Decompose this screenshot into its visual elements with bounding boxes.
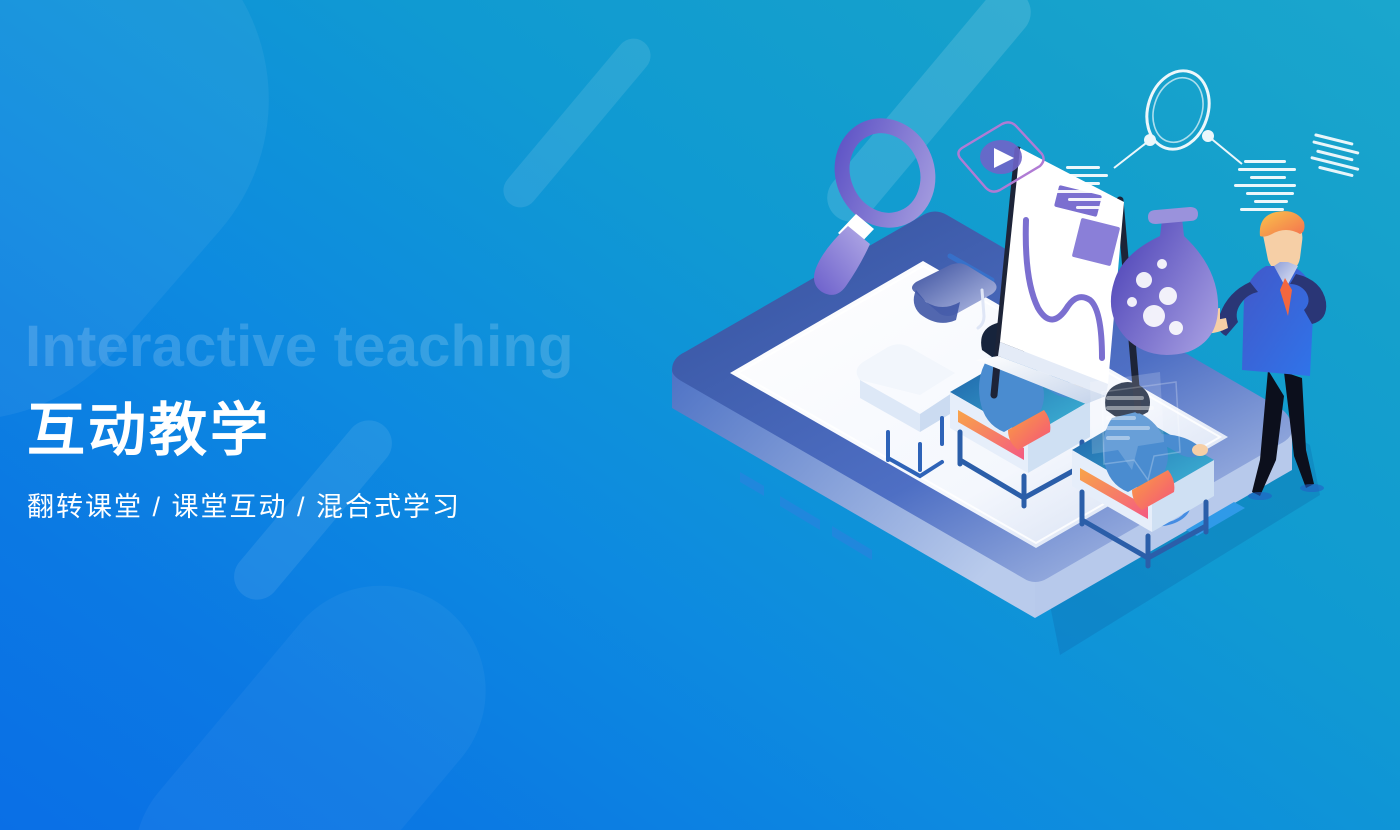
isometric-classroom-illustration (620, 40, 1400, 820)
dotted-lines-corner (1310, 133, 1359, 177)
flask-icon (1111, 207, 1218, 355)
page-subtitle: 翻转课堂 / 课堂互动 / 混合式学习 (27, 494, 574, 521)
ghost-heading: Interactive teaching (25, 318, 574, 376)
decorative-streak-4 (91, 543, 528, 830)
page-title: 互动教学 (27, 402, 574, 460)
hero-copy: Interactive teaching 互动教学 翻转课堂 / 课堂互动 / … (25, 318, 574, 521)
hero-banner: Interactive teaching 互动教学 翻转课堂 / 课堂互动 / … (0, 0, 1400, 830)
